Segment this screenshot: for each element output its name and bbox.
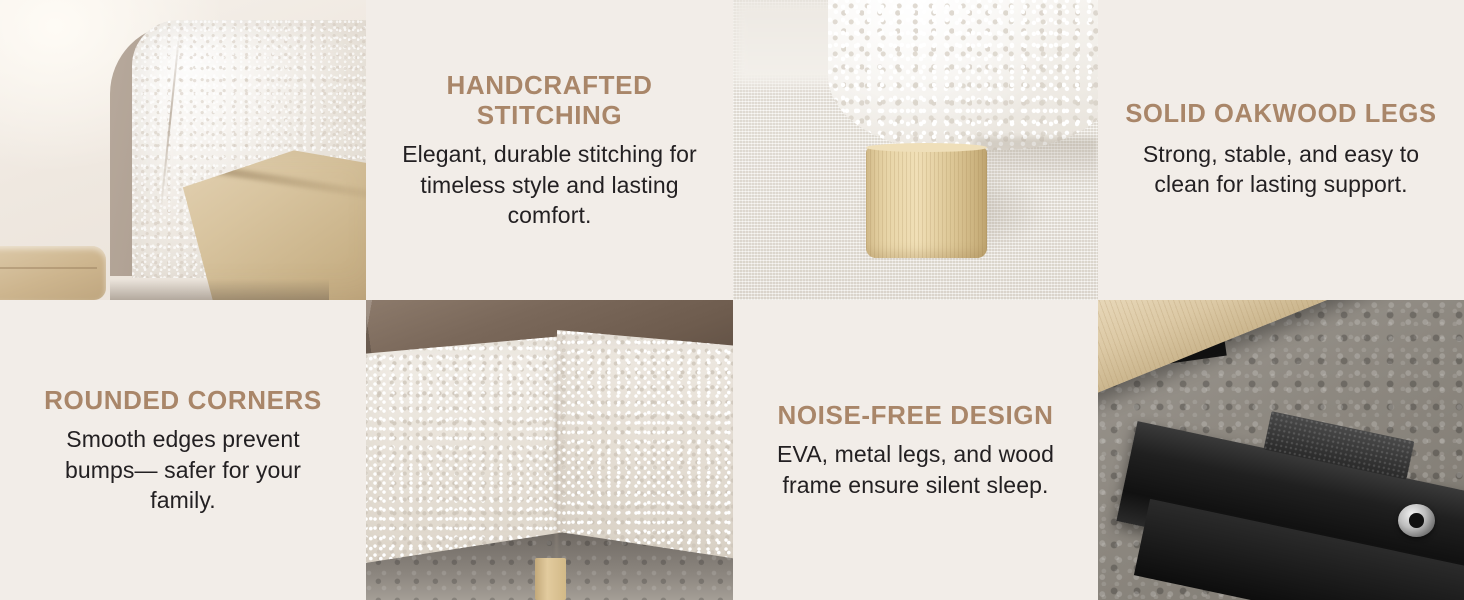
feature-description: EVA, metal legs, and wood frame ensure s…	[766, 439, 1066, 500]
panel-solid-oakwood-legs: SOLID OAKWOOD LEGS Strong, stable, and e…	[1098, 0, 1464, 300]
panel-rounded-corners: ROUNDED CORNERS Smooth edges prevent bum…	[0, 300, 366, 600]
feature-grid: HANDCRAFTED STITCHING Elegant, durable s…	[0, 0, 1464, 600]
panel-noise-free-design: NOISE-FREE DESIGN EVA, metal legs, and w…	[733, 300, 1098, 600]
panel-handcrafted-stitching: HANDCRAFTED STITCHING Elegant, durable s…	[366, 0, 733, 300]
boucle-face-left	[366, 336, 564, 564]
wooden-nightstand	[0, 246, 106, 300]
headboard-photo	[0, 0, 366, 300]
bed-corner-photo	[366, 300, 733, 600]
feature-title: ROUNDED CORNERS	[44, 385, 322, 415]
feature-title: HANDCRAFTED STITCHING	[447, 70, 653, 131]
feature-description: Strong, stable, and easy to clean for la…	[1126, 139, 1436, 200]
feature-description: Smooth edges prevent bumps— safer for yo…	[31, 424, 336, 515]
floor-shadow	[110, 279, 330, 300]
boucle-face-right	[557, 330, 733, 570]
wooden-leg	[535, 558, 566, 600]
rounded-corner-edge	[555, 333, 558, 561]
feature-title: SOLID OAKWOOD LEGS	[1125, 100, 1436, 130]
oak-leg-photo	[733, 0, 1098, 300]
feature-description: Elegant, durable stitching for timeless …	[390, 139, 710, 230]
oakwood-leg	[866, 147, 986, 258]
feature-title: NOISE-FREE DESIGN	[777, 400, 1053, 430]
boucle-bed-base	[828, 0, 1098, 150]
frame-detail-photo	[1098, 300, 1464, 600]
metal-bolt	[1398, 504, 1435, 537]
